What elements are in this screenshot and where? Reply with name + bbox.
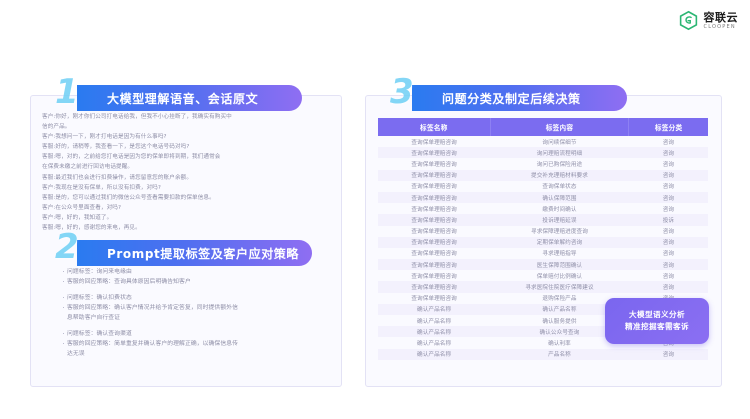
dialogue-transcript: 客户:你好，刚才你们公司打电话给我，但我不小心挂断了，我确实有购买中 信的产品。…	[42, 113, 330, 234]
response-strategy-cont: 息帮助客户自行查证	[67, 314, 120, 323]
response-strategy: 客服的回应策略：查询具体原因后明确告知客户	[67, 278, 191, 287]
callout-badge: 大模型语义分析 精准挖掘客需客诉	[605, 298, 709, 344]
table-cell: 提交补充理赔材料要求	[490, 170, 629, 181]
table-cell: 咨询	[629, 248, 708, 259]
table-cell: 咨询	[629, 158, 708, 169]
issue-label: 问题标签：询问来电缘由	[67, 268, 132, 277]
table-cell: 查询保单状态	[490, 181, 629, 192]
table-cell: 咨询	[629, 270, 708, 281]
table-cell: 查询保单理赔咨询	[378, 192, 490, 203]
issue-label: 问题标签：确认扣费状态	[67, 294, 132, 303]
dialogue-line: 客户:你好，刚才你们公司打电话给我，但我不小心挂断了，我确实有购买中	[42, 113, 330, 122]
dialogue-line: 客户:在公众号里面查看，对吗?	[42, 204, 330, 213]
column-header-label-name: 标签名称	[378, 118, 490, 136]
table-cell: 查询保单理赔咨询	[378, 158, 490, 169]
bullet-dot-icon: ·	[60, 340, 67, 349]
bullet-dot-icon: ·	[60, 330, 67, 339]
section-title-3: 问题分类及制定后续决策	[442, 90, 581, 107]
callout-line-2: 精准挖掘客需客诉	[625, 321, 689, 333]
table-cell: 查询保单理赔咨询	[378, 270, 490, 281]
dialogue-line: 客户:我现在是没有保单，所以没有扣费，对吗?	[42, 184, 330, 193]
table-cell: 寻求医院住院医疗保障建议	[490, 281, 629, 292]
table-cell: 查询保单理赔咨询	[378, 170, 490, 181]
response-strategy: 客服的回应策略：简单重复并确认客户的理解正确，以确保信息传	[67, 340, 238, 349]
strategy-group: · 问题标签：确认查询渠道 · 客服的回应策略：简单重复并确认客户的理解正确，以…	[60, 330, 330, 359]
dialogue-line: 在保费未缴之前进行回访电话提醒。	[42, 163, 330, 172]
table-cell: 咨询	[629, 192, 708, 203]
table-row: 查询保单理赔咨询缴费时间确认咨询	[378, 203, 708, 214]
table-cell: 医生保障范围确认	[490, 259, 629, 270]
bullet-dot-icon: ·	[60, 268, 67, 277]
table-row: 确认产品名称产品名称咨询	[378, 349, 708, 360]
table-cell: 产品名称	[490, 349, 629, 360]
column-header-label-category: 标签分类	[629, 118, 708, 136]
table-cell: 咨询	[629, 281, 708, 292]
bullet-dot-icon: ·	[60, 304, 67, 313]
section-number-2: 2	[55, 227, 79, 267]
table-cell: 投诉	[629, 214, 708, 225]
table-cell: 咨询	[629, 136, 708, 147]
section-pill-2: Prompt提取标签及客户应对策略	[77, 240, 312, 266]
table-cell: 咨询	[629, 259, 708, 270]
strategy-bullet-list: · 问题标签：询问来电缘由 · 客服的回应策略：查询具体原因后明确告知客户 · …	[60, 268, 330, 366]
table-row: 查询保单理赔咨询查询保单状态咨询	[378, 181, 708, 192]
dialogue-line: 客服:嗯，对的，之前给您打电话是因为您的保单即将到期，我们通常会	[42, 153, 330, 162]
table-row: 查询保单理赔咨询询问续保细节咨询	[378, 136, 708, 147]
table-cell: 查询保单理赔咨询	[378, 248, 490, 259]
table-cell: 查询保单理赔咨询	[378, 147, 490, 158]
section-pill-3: 问题分类及制定后续决策	[412, 85, 627, 111]
table-row: 查询保单理赔咨询提交补充理赔材料要求咨询	[378, 170, 708, 181]
table-cell: 咨询	[629, 181, 708, 192]
section-title-2: Prompt提取标签及客户应对策略	[107, 245, 299, 262]
table-cell: 查询保单理赔咨询	[378, 214, 490, 225]
section-number-3: 3	[390, 72, 414, 112]
table-cell: 咨询	[629, 203, 708, 214]
table-cell: 确认产品名称	[378, 315, 490, 326]
table-cell: 确认产品名称	[378, 304, 490, 315]
table-row: 查询保单理赔咨询询问已购保险用途咨询	[378, 158, 708, 169]
table-row: 查询保单理赔咨询投诉理赔延误投诉	[378, 214, 708, 225]
brand-name-en: CLOOPEN	[704, 25, 739, 30]
table-cell: 查询保单理赔咨询	[378, 181, 490, 192]
response-strategy-cont: 达无误	[67, 350, 85, 359]
bullet-dot-icon: ·	[60, 278, 67, 287]
dialogue-line: 客户:我想问一下，刚才打电话是因为有什么事吗?	[42, 133, 330, 142]
strategy-group: · 问题标签：询问来电缘由 · 客服的回应策略：查询具体原因后明确告知客户	[60, 268, 330, 287]
table-cell: 查询保单理赔咨询	[378, 237, 490, 248]
dialogue-line: 客户:嗯，好的，我知道了。	[42, 214, 330, 223]
strategy-group: · 问题标签：确认扣费状态 · 客服的回应策略：确认客户情况并给予肯定答复，同时…	[60, 294, 330, 323]
dialogue-line: 信的产品。	[42, 123, 330, 132]
section-pill-1: 大模型理解语音、会话原文	[77, 85, 302, 111]
table-cell: 查询保单理赔咨询	[378, 293, 490, 304]
table-cell: 投诉理赔延误	[490, 214, 629, 225]
section-number-1: 1	[55, 72, 79, 112]
table-cell: 查询保单理赔咨询	[378, 259, 490, 270]
table-cell: 查询保单理赔咨询	[378, 226, 490, 237]
table-row: 查询保单理赔咨询寻求医院住院医疗保障建议咨询	[378, 281, 708, 292]
table-cell: 咨询	[629, 147, 708, 158]
table-row: 查询保单理赔咨询寻求理赔指导咨询	[378, 248, 708, 259]
table-cell: 定期保单解约咨询	[490, 237, 629, 248]
table-cell: 寻求理赔指导	[490, 248, 629, 259]
table-cell: 询问续保细节	[490, 136, 629, 147]
table-cell: 询问已购保险用途	[490, 158, 629, 169]
table-row: 查询保单理赔咨询询问理赔流程明细咨询	[378, 147, 708, 158]
brand-logo: 容联云 CLOOPEN	[678, 10, 739, 31]
table-cell: 查询保单理赔咨询	[378, 203, 490, 214]
callout-line-1: 大模型语义分析	[629, 309, 685, 321]
table-cell: 确认产品名称	[378, 349, 490, 360]
hexagon-logo-icon	[678, 10, 699, 31]
dialogue-line: 客服:嗯，好的，感谢您的来电，再见。	[42, 224, 330, 233]
table-cell: 保单赔付比例确认	[490, 270, 629, 281]
table-cell: 查询保单理赔咨询	[378, 136, 490, 147]
table-cell: 咨询	[629, 226, 708, 237]
table-cell: 确认产品名称	[378, 337, 490, 348]
table-row: 查询保单理赔咨询保单赔付比例确认咨询	[378, 270, 708, 281]
table-cell: 寻求保障理赔进度查询	[490, 226, 629, 237]
table-cell: 缴费时间确认	[490, 203, 629, 214]
table-row: 查询保单理赔咨询确认保障范围咨询	[378, 192, 708, 203]
table-row: 查询保单理赔咨询医生保障范围确认咨询	[378, 259, 708, 270]
bullet-dot-icon: ·	[60, 294, 67, 303]
response-strategy: 客服的回应策略：确认客户情况并给予肯定答复，同时提供额外信	[67, 304, 238, 313]
dialogue-line: 客服:好的，请稍等，我查看一下，是您这个电话号码对吗?	[42, 143, 330, 152]
table-cell: 确认保障范围	[490, 192, 629, 203]
table-header-row: 标签名称 标签内容 标签分类	[378, 118, 708, 136]
table-row: 查询保单理赔咨询定期保单解约咨询咨询	[378, 237, 708, 248]
issue-label: 问题标签：确认查询渠道	[67, 330, 132, 339]
dialogue-line: 客服:是的，您可以通过我们的微信公众号查看需要扣款的保单信息。	[42, 194, 330, 203]
dialogue-line: 客服:最近我们也会进行扣费操作，请您留意您的账户余额。	[42, 174, 330, 183]
table-row: 查询保单理赔咨询寻求保障理赔进度查询咨询	[378, 226, 708, 237]
table-cell: 咨询	[629, 237, 708, 248]
section-title-1: 大模型理解语音、会话原文	[107, 90, 258, 107]
table-cell: 咨询	[629, 349, 708, 360]
column-header-label-content: 标签内容	[490, 118, 629, 136]
table-cell: 咨询	[629, 170, 708, 181]
brand-name-cn: 容联云	[704, 12, 739, 23]
table-cell: 确认产品名称	[378, 326, 490, 337]
table-cell: 询问理赔流程明细	[490, 147, 629, 158]
table-cell: 查询保单理赔咨询	[378, 281, 490, 292]
